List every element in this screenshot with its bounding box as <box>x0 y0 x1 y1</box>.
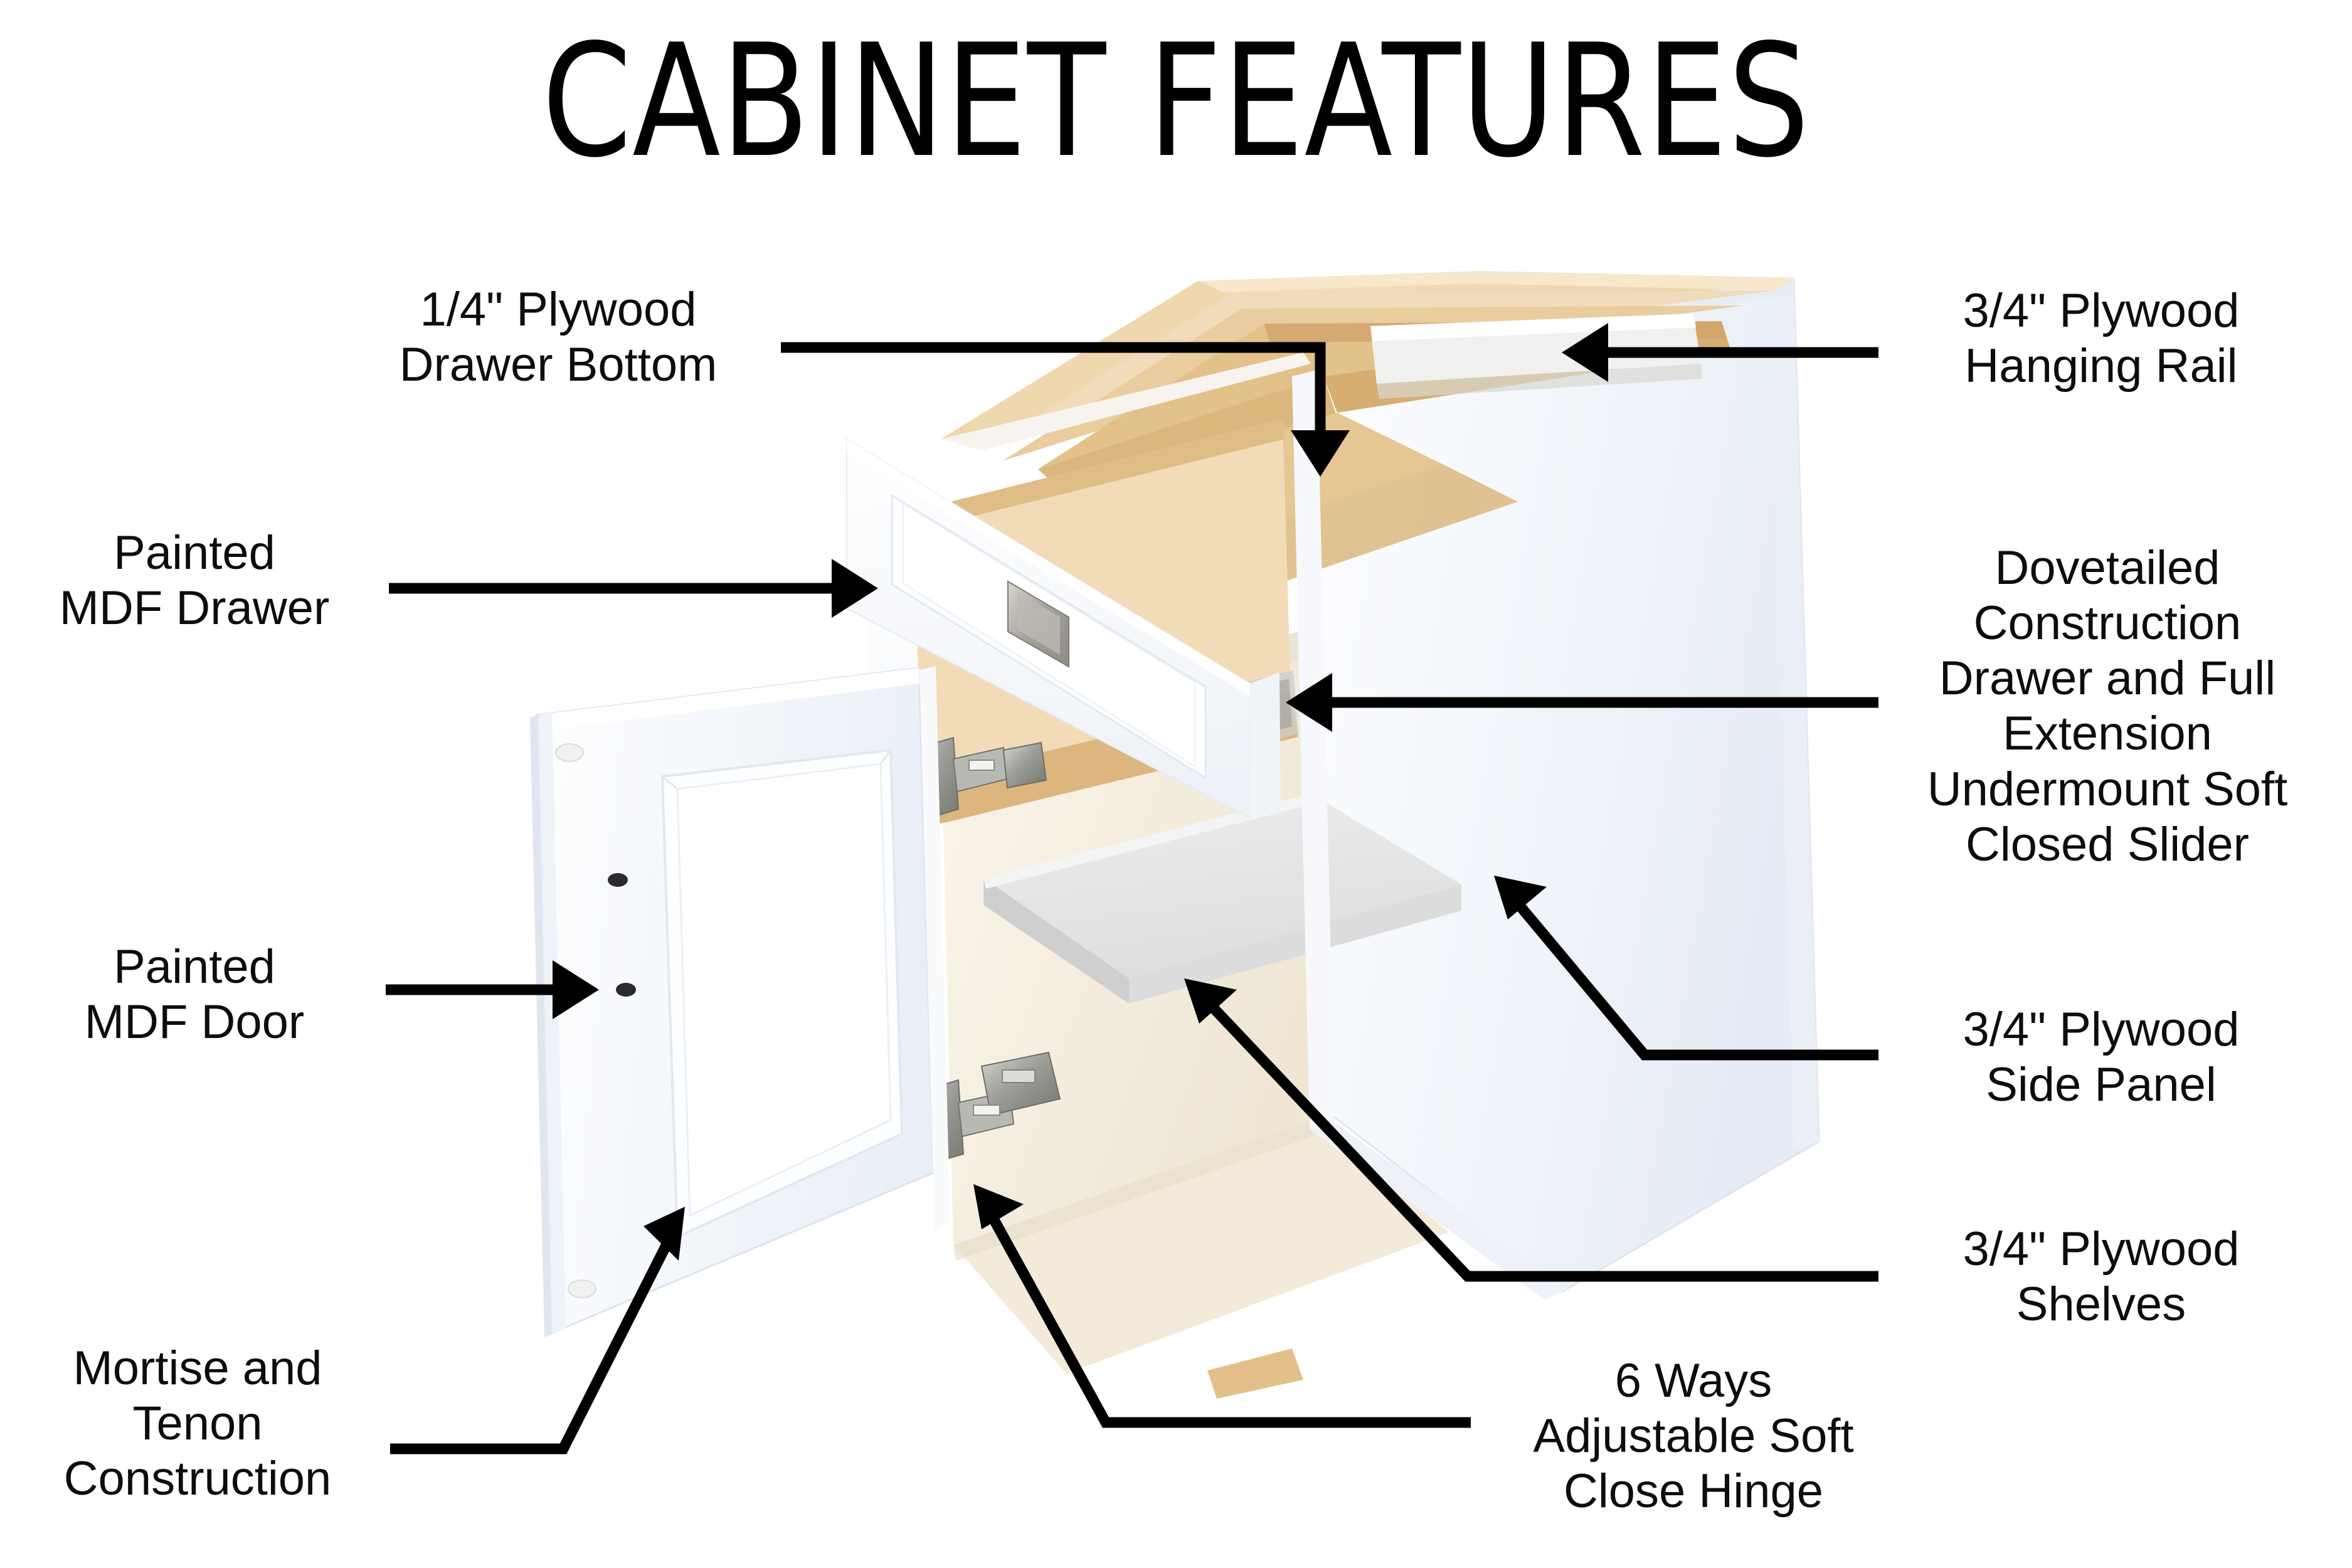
cabinet-photo-group <box>530 271 1819 1399</box>
callout-label-drawer-bottom: 1/4" Plywood Drawer Bottom <box>351 282 765 393</box>
leader-shelves <box>1184 978 1878 1276</box>
callout-label-painted-mdf-drawer: Painted MDF Drawer <box>6 526 383 636</box>
drawer-box <box>866 419 1298 827</box>
leader-hinge <box>973 1184 1471 1422</box>
callout-label-painted-mdf-door: Painted MDF Door <box>6 940 383 1050</box>
drawer-front <box>844 438 1281 823</box>
cabinet-door <box>530 668 933 1337</box>
poster-canvas: CABINET FEATURES <box>0 0 2352 1568</box>
leader-drawer-bottom <box>781 347 1350 477</box>
callout-label-hinge: 6 Ways Adjustable Soft Close Hinge <box>1480 1353 1907 1519</box>
callout-label-hanging-rail: 3/4" Plywood Hanging Rail <box>1894 283 2308 394</box>
drawer-knob <box>1008 581 1069 667</box>
leader-dovetailed <box>1286 673 1878 732</box>
hinge-top <box>908 738 1046 823</box>
leader-hanging-rail <box>1562 323 1878 382</box>
top-plywood-frame <box>941 271 1795 590</box>
leader-side-panel <box>1494 876 1878 1055</box>
leader-painted-mdf-door <box>386 960 599 1019</box>
callout-label-dovetailed: Dovetailed Construction Drawer and Full … <box>1888 541 2327 872</box>
leader-painted-mdf-drawer <box>389 559 878 618</box>
leader-mortise-tenon <box>390 1207 685 1449</box>
cabinet-front-top-rail <box>901 351 1317 1104</box>
hanging-rail <box>1370 314 1702 399</box>
cabinet-side-panel <box>1301 279 1819 1292</box>
callout-label-shelves: 3/4" Plywood Shelves <box>1894 1222 2308 1332</box>
carcass-left-edge <box>919 666 950 1231</box>
cabinet-front-body <box>900 352 1562 1374</box>
plywood-bottom-reveal <box>1207 1348 1303 1399</box>
plywood-shelf <box>983 793 1461 1004</box>
page-title: CABINET FEATURES <box>94 24 2258 179</box>
carcass-front-stile <box>1292 370 1568 1300</box>
callout-label-mortise-tenon: Mortise and Tenon Construction <box>6 1341 389 1507</box>
callout-label-side-panel: 3/4" Plywood Side Panel <box>1894 1002 2308 1113</box>
hinge-bottom <box>911 1052 1060 1168</box>
